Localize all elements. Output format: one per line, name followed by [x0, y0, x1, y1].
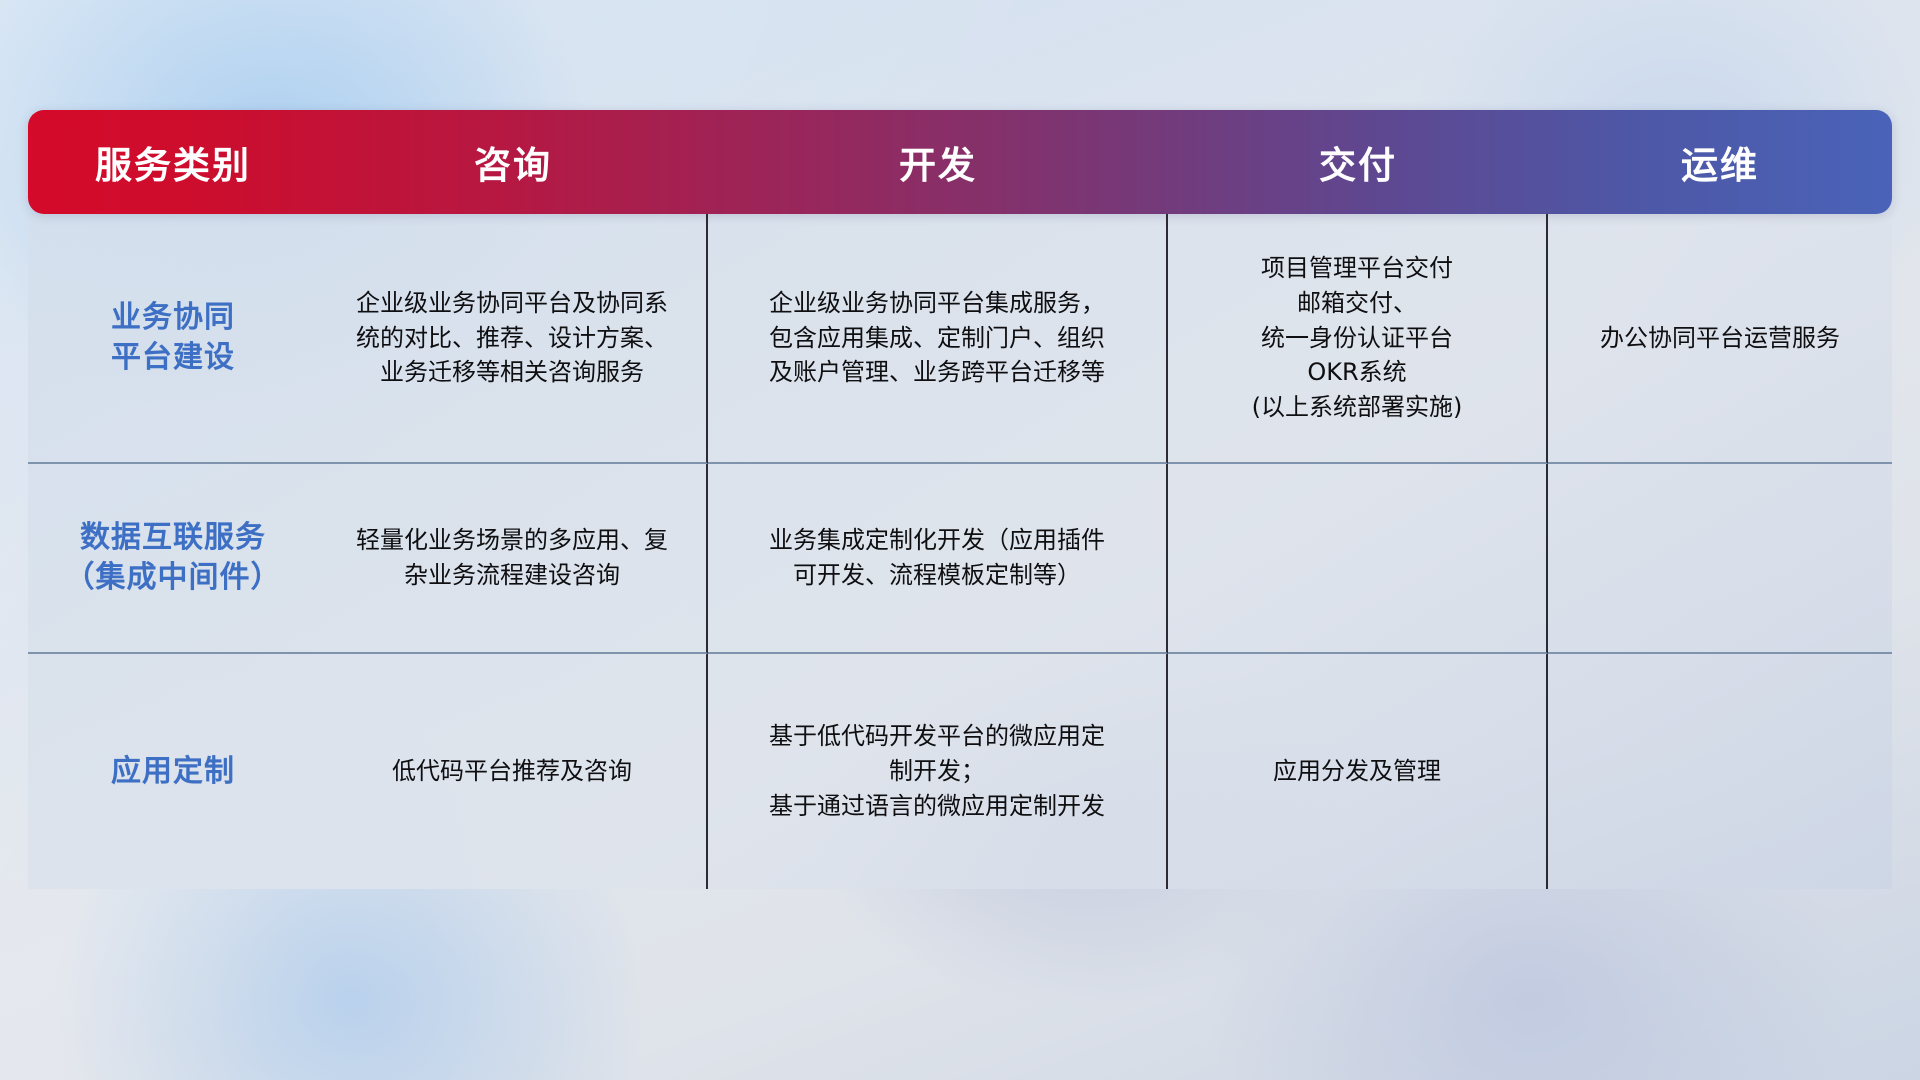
column-header-consulting-label: 咨询	[474, 144, 552, 187]
service-matrix-container: 服务类别 咨询 开发 交付 运维 业务协同 平台建设	[28, 110, 1892, 889]
column-header-delivery-label: 交付	[1319, 144, 1397, 187]
row-1-development-cell: 企业级业务协同平台集成服务， 包含应用集成、定制门户、组织 及账户管理、业务跨平…	[708, 214, 1168, 464]
row-3-consulting-cell: 低代码平台推荐及咨询	[318, 654, 708, 889]
row-1-operations-cell: 办公协同平台运营服务	[1548, 214, 1892, 464]
table-row: 应用定制 低代码平台推荐及咨询 基于低代码开发平台的微应用定 制开发； 基于通过…	[28, 654, 1892, 889]
row-2-delivery-cell	[1168, 464, 1548, 654]
row-3-operations-cell	[1548, 654, 1892, 889]
row-3-delivery-cell: 应用分发及管理	[1168, 654, 1548, 889]
row-2-consulting-cell: 轻量化业务场景的多应用、复 杂业务流程建设咨询	[318, 464, 708, 654]
row-3-development-text: 基于低代码开发平台的微应用定 制开发； 基于通过语言的微应用定制开发	[722, 719, 1152, 823]
row-1-development-text: 企业级业务协同平台集成服务， 包含应用集成、定制门户、组织 及账户管理、业务跨平…	[722, 286, 1152, 390]
row-1-consulting-text: 企业级业务协同平台及协同系 统的对比、推荐、设计方案、 业务迁移等相关咨询服务	[332, 286, 692, 390]
row-3-category-text: 应用定制	[42, 752, 304, 792]
service-matrix-table: 服务类别 咨询 开发 交付 运维 业务协同 平台建设	[28, 110, 1892, 889]
row-2-operations-cell	[1548, 464, 1892, 654]
row-1-category-cell: 业务协同 平台建设	[28, 214, 318, 464]
row-3-consulting-text: 低代码平台推荐及咨询	[332, 754, 692, 789]
row-2-development-cell: 业务集成定制化开发（应用插件 可开发、流程模板定制等）	[708, 464, 1168, 654]
row-1-operations-text: 办公协同平台运营服务	[1562, 321, 1878, 356]
table-row: 数据互联服务 （集成中间件） 轻量化业务场景的多应用、复 杂业务流程建设咨询 业…	[28, 464, 1892, 654]
row-2-category-cell: 数据互联服务 （集成中间件）	[28, 464, 318, 654]
row-2-consulting-text: 轻量化业务场景的多应用、复 杂业务流程建设咨询	[332, 523, 692, 593]
row-2-development-text: 业务集成定制化开发（应用插件 可开发、流程模板定制等）	[722, 523, 1152, 593]
row-1-consulting-cell: 企业级业务协同平台及协同系 统的对比、推荐、设计方案、 业务迁移等相关咨询服务	[318, 214, 708, 464]
row-1-delivery-text: 项目管理平台交付 邮箱交付、 统一身份认证平台 OKR系统 (以上系统部署实施)	[1182, 251, 1532, 425]
row-3-delivery-text: 应用分发及管理	[1182, 754, 1532, 789]
column-header-development-label: 开发	[899, 144, 977, 187]
table-row: 业务协同 平台建设 企业级业务协同平台及协同系 统的对比、推荐、设计方案、 业务…	[28, 214, 1892, 464]
row-1-delivery-cell: 项目管理平台交付 邮箱交付、 统一身份认证平台 OKR系统 (以上系统部署实施)	[1168, 214, 1548, 464]
row-3-category-cell: 应用定制	[28, 654, 318, 889]
row-3-development-cell: 基于低代码开发平台的微应用定 制开发； 基于通过语言的微应用定制开发	[708, 654, 1168, 889]
column-header-category-label: 服务类别	[95, 144, 251, 187]
row-1-category-text: 业务协同 平台建设	[42, 298, 304, 377]
column-header-operations-label: 运维	[1681, 144, 1759, 187]
row-2-category-text: 数据互联服务 （集成中间件）	[42, 518, 304, 597]
table-body: 业务协同 平台建设 企业级业务协同平台及协同系 统的对比、推荐、设计方案、 业务…	[28, 214, 1892, 889]
